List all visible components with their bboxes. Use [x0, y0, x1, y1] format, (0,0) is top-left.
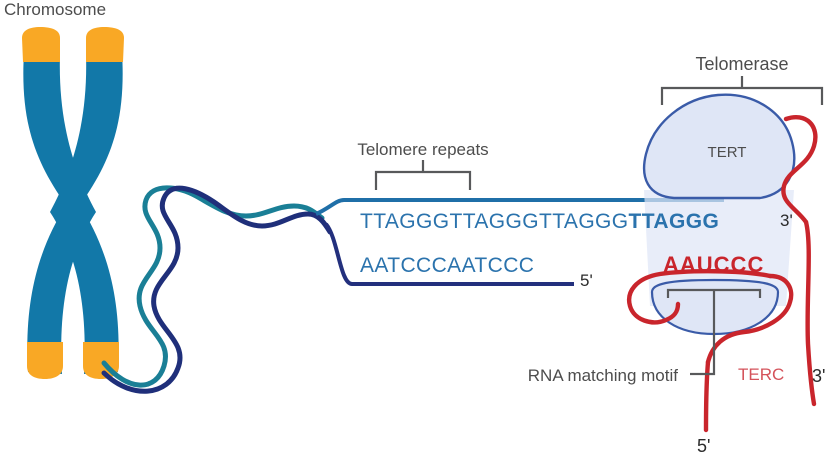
terc-three-prime-label: 3' [812, 366, 825, 386]
rna-template-sequence: AAUCCC [663, 252, 764, 277]
terc-five-prime-label: 5' [697, 436, 710, 456]
top-strand-bold: TTAGGG [629, 210, 720, 233]
telomere-repeats-annotation: Telomere repeats [357, 140, 488, 190]
chromosome-label: Chromosome [4, 0, 106, 19]
chromosome-figure [22, 27, 124, 379]
telomere-cap-bottom-left [27, 342, 63, 379]
rna-matching-motif-label: RNA matching motif [528, 366, 678, 385]
dna-double-helix [104, 188, 330, 391]
terc-label: TERC [738, 365, 784, 384]
telomerase-label: Telomerase [695, 54, 788, 74]
bottom-strand-sequence: AATCCCAATCCC [360, 254, 534, 277]
terc-five-prime-tail [706, 362, 708, 430]
telomere-repeats-bracket [376, 160, 470, 190]
bottom-strand-end-label: 5' [580, 271, 593, 290]
telomere-cap-top-left [22, 27, 60, 62]
top-strand-end-label: 3' [780, 211, 793, 230]
tert-label: TERT [708, 144, 747, 161]
telomerase-diagram: TERT TTAGGGTTAGGGTTAGGGTTAGGG 3' AATCCCA… [0, 0, 840, 459]
telomere-repeats-label: Telomere repeats [357, 140, 488, 159]
top-strand-plain: TTAGGGTTAGGGTTAGGG [360, 210, 629, 233]
telomere-cap-top-right [86, 27, 124, 62]
top-strand-sequence: TTAGGGTTAGGGTTAGGGTTAGGG [360, 210, 719, 233]
